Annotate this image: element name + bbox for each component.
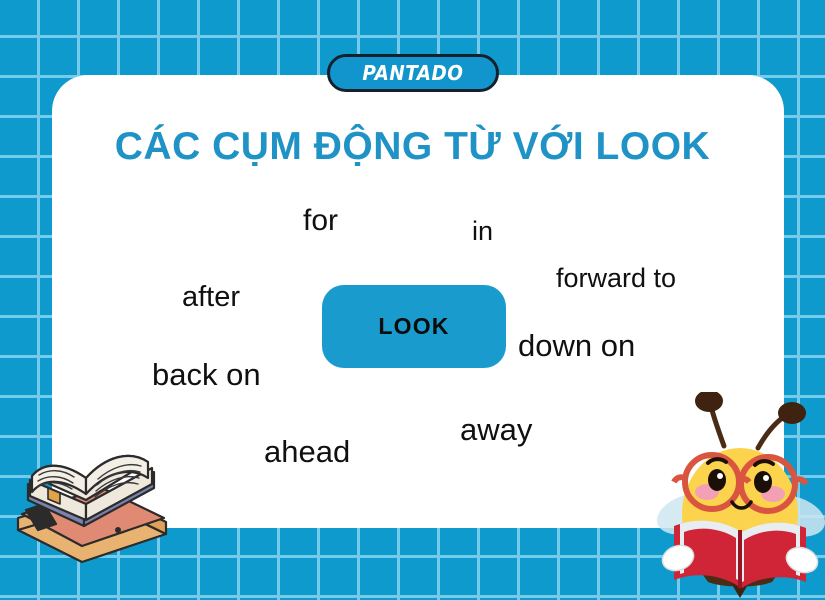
center-keyword-label: LOOK xyxy=(378,313,449,340)
bee-illustration xyxy=(654,392,825,600)
phrase-word: for xyxy=(303,204,338,238)
phrase-word: down on xyxy=(518,328,635,364)
phrase-word: after xyxy=(182,281,240,314)
phrase-word: ahead xyxy=(264,434,350,470)
books-icon xyxy=(8,438,178,568)
phrase-word: back on xyxy=(152,357,261,393)
brand-logo-badge[interactable]: PANTADO xyxy=(327,54,499,92)
reading-bee-icon xyxy=(654,392,825,600)
phrase-word: away xyxy=(460,412,532,448)
books-illustration xyxy=(8,438,178,568)
poster-canvas: PANTADO CÁC CỤM ĐỘNG TỪ VỚI LOOK LOOK fo… xyxy=(0,0,825,600)
center-keyword-box: LOOK xyxy=(322,285,506,368)
phrase-word: in xyxy=(472,216,493,247)
brand-logo-text: PANTADO xyxy=(362,61,463,85)
page-title: CÁC CỤM ĐỘNG TỪ VỚI LOOK xyxy=(0,124,825,170)
phrase-word: forward to xyxy=(556,263,676,294)
